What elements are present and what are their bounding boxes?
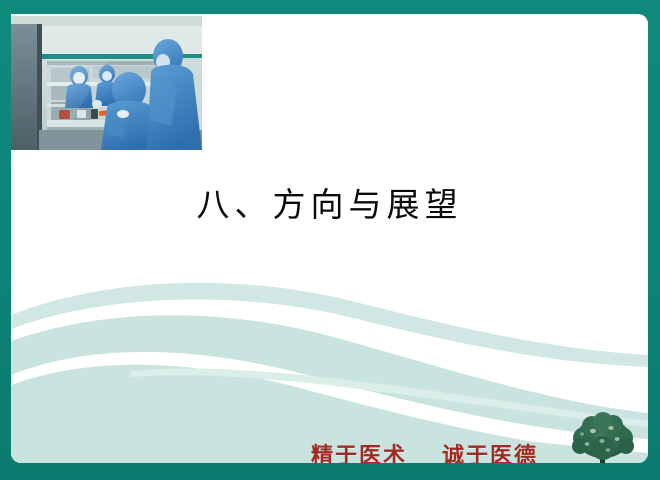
motto-text: 精于医术 诚于医德 [311,438,571,463]
motto-right: 诚于医德 [442,443,538,463]
cleanroom-photo [11,16,202,150]
tree-logo-icon [567,408,639,463]
presentation-slide: 八、方向与展望 精于医术 诚于医德 [0,0,660,480]
wave-decoration [11,263,648,463]
slide-canvas: 八、方向与展望 精于医术 诚于医德 [11,14,648,463]
slide-title: 八、方向与展望 [11,186,648,227]
motto-left: 精于医术 [311,443,407,463]
